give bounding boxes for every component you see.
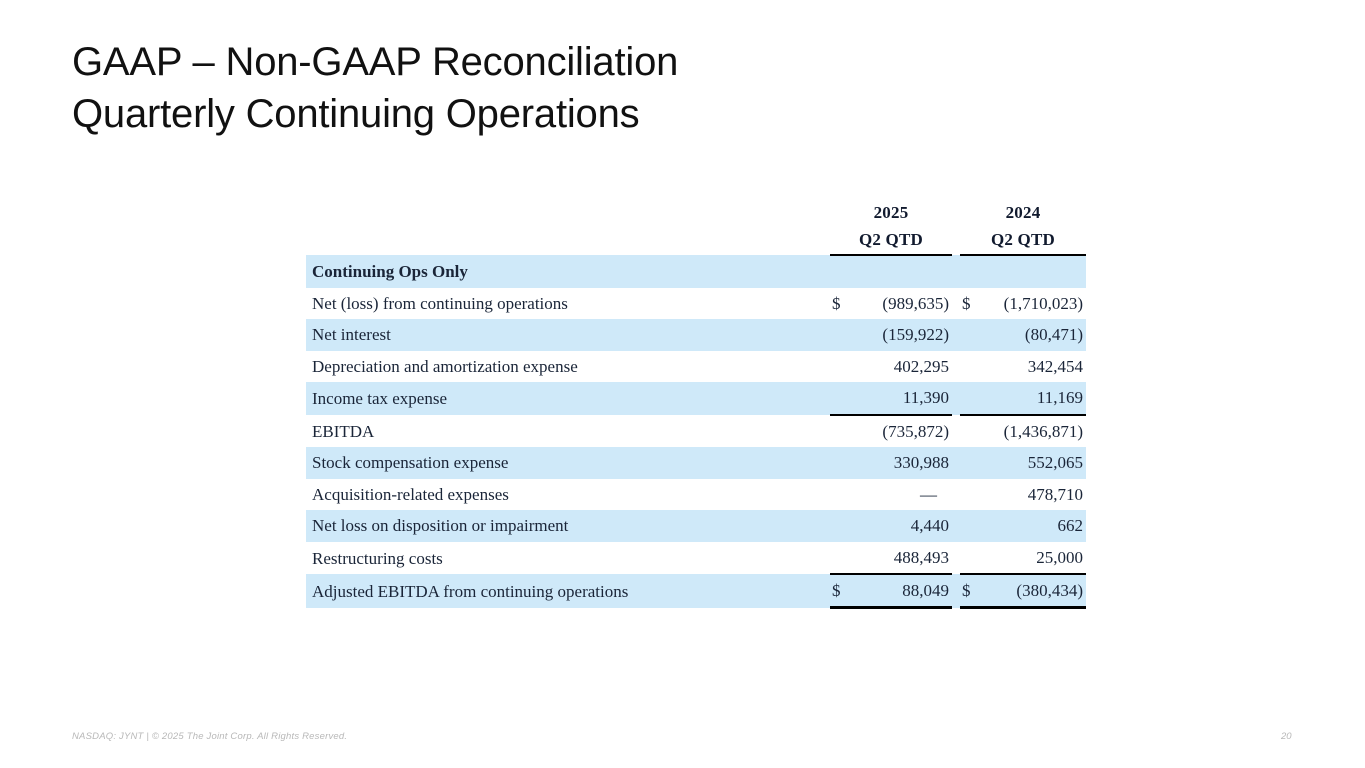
cell-value-2: 478,710 — [984, 479, 1086, 511]
cell-currency-1: $ — [830, 288, 854, 320]
cell-value-1: 4,440 — [854, 510, 952, 542]
cell-value-1: 488,493 — [854, 542, 952, 575]
table-header: 2025 2024 Q2 QTD Q2 QTD — [306, 200, 1086, 255]
table-row: Stock compensation expense 330,988 552,0… — [306, 447, 1086, 479]
cell-currency-2 — [960, 542, 984, 575]
slide-canvas: GAAP – Non-GAAP Reconciliation Quarterly… — [0, 0, 1365, 768]
table-row: Restructuring costs 488,493 25,000 — [306, 542, 1086, 575]
row-label: Stock compensation expense — [306, 447, 830, 479]
row-label: Income tax expense — [306, 382, 830, 415]
cell-value-2: (380,434) — [984, 574, 1086, 608]
table-row: Income tax expense 11,390 11,169 — [306, 382, 1086, 415]
cell-currency-2 — [960, 447, 984, 479]
row-label: Depreciation and amortization expense — [306, 351, 830, 383]
row-label: Adjusted EBITDA from continuing operatio… — [306, 574, 830, 608]
financial-table: 2025 2024 Q2 QTD Q2 QTD Continuing Ops O… — [306, 200, 1086, 609]
column-year-2025: 2025 — [830, 200, 952, 226]
header-spacer-2 — [306, 226, 830, 255]
cell-value-2: 11,169 — [984, 382, 1086, 415]
table-row: Net loss on disposition or impairment 4,… — [306, 510, 1086, 542]
cell-currency-2 — [960, 510, 984, 542]
page-number: 20 — [1281, 731, 1292, 742]
cell-currency-2 — [960, 479, 984, 511]
cell-value-1 — [854, 255, 952, 288]
cell-value-1: (735,872) — [854, 415, 952, 448]
cell-currency-2: $ — [960, 574, 984, 608]
table-row: Net (loss) from continuing operations $ … — [306, 288, 1086, 320]
cell-currency-2 — [960, 255, 984, 288]
footer-legal-text: NASDAQ: JYNT | © 2025 The Joint Corp. Al… — [72, 731, 347, 742]
row-label: Net interest — [306, 319, 830, 351]
cell-currency-1 — [830, 255, 854, 288]
row-label: Acquisition-related expenses — [306, 479, 830, 511]
cell-gap — [952, 382, 960, 415]
cell-currency-2 — [960, 382, 984, 415]
cell-value-2 — [984, 255, 1086, 288]
column-period-2025: Q2 QTD — [830, 226, 952, 255]
cell-value-1: 11,390 — [854, 382, 952, 415]
cell-currency-1 — [830, 351, 854, 383]
cell-gap — [952, 447, 960, 479]
cell-value-1: — — [854, 479, 952, 511]
table-row: Net interest (159,922) (80,471) — [306, 319, 1086, 351]
cell-value-2: (1,436,871) — [984, 415, 1086, 448]
cell-gap — [952, 479, 960, 511]
cell-gap — [952, 542, 960, 575]
table-row: Depreciation and amortization expense 40… — [306, 351, 1086, 383]
cell-value-2: 662 — [984, 510, 1086, 542]
cell-currency-2 — [960, 351, 984, 383]
table-row: Continuing Ops Only — [306, 255, 1086, 288]
slide-title: GAAP – Non-GAAP Reconciliation Quarterly… — [72, 36, 1072, 140]
cell-currency-2: $ — [960, 288, 984, 320]
table-row-total: Adjusted EBITDA from continuing operatio… — [306, 574, 1086, 608]
header-spacer — [306, 200, 830, 226]
row-label: Net (loss) from continuing operations — [306, 288, 830, 320]
section-header-label: Continuing Ops Only — [306, 255, 830, 288]
row-label: Net loss on disposition or impairment — [306, 510, 830, 542]
header-row-period: Q2 QTD Q2 QTD — [306, 226, 1086, 255]
cell-value-1: (989,635) — [854, 288, 952, 320]
table-row: Acquisition-related expenses — 478,710 — [306, 479, 1086, 511]
cell-currency-1 — [830, 510, 854, 542]
cell-gap — [952, 510, 960, 542]
cell-currency-1 — [830, 382, 854, 415]
cell-gap — [952, 351, 960, 383]
cell-gap — [952, 288, 960, 320]
header-gap-2 — [952, 226, 960, 255]
cell-currency-1 — [830, 415, 854, 448]
cell-gap — [952, 255, 960, 288]
cell-gap — [952, 415, 960, 448]
cell-value-2: (80,471) — [984, 319, 1086, 351]
table-body: Continuing Ops Only Net (loss) from cont… — [306, 255, 1086, 608]
cell-value-2: 342,454 — [984, 351, 1086, 383]
cell-value-1: 402,295 — [854, 351, 952, 383]
table-row: EBITDA (735,872) (1,436,871) — [306, 415, 1086, 448]
cell-value-1: (159,922) — [854, 319, 952, 351]
cell-value-2: (1,710,023) — [984, 288, 1086, 320]
cell-gap — [952, 319, 960, 351]
column-year-2024: 2024 — [960, 200, 1086, 226]
cell-value-2: 552,065 — [984, 447, 1086, 479]
cell-gap — [952, 574, 960, 608]
cell-currency-1: $ — [830, 574, 854, 608]
column-period-2024: Q2 QTD — [960, 226, 1086, 255]
header-row-year: 2025 2024 — [306, 200, 1086, 226]
reconciliation-table: 2025 2024 Q2 QTD Q2 QTD Continuing Ops O… — [306, 200, 1086, 609]
cell-value-1: 330,988 — [854, 447, 952, 479]
header-gap — [952, 200, 960, 226]
row-label: EBITDA — [306, 415, 830, 448]
cell-value-1: 88,049 — [854, 574, 952, 608]
cell-currency-2 — [960, 319, 984, 351]
cell-currency-1 — [830, 319, 854, 351]
cell-currency-1 — [830, 542, 854, 575]
cell-currency-1 — [830, 447, 854, 479]
cell-value-2: 25,000 — [984, 542, 1086, 575]
cell-currency-2 — [960, 415, 984, 448]
cell-currency-1 — [830, 479, 854, 511]
row-label: Restructuring costs — [306, 542, 830, 575]
